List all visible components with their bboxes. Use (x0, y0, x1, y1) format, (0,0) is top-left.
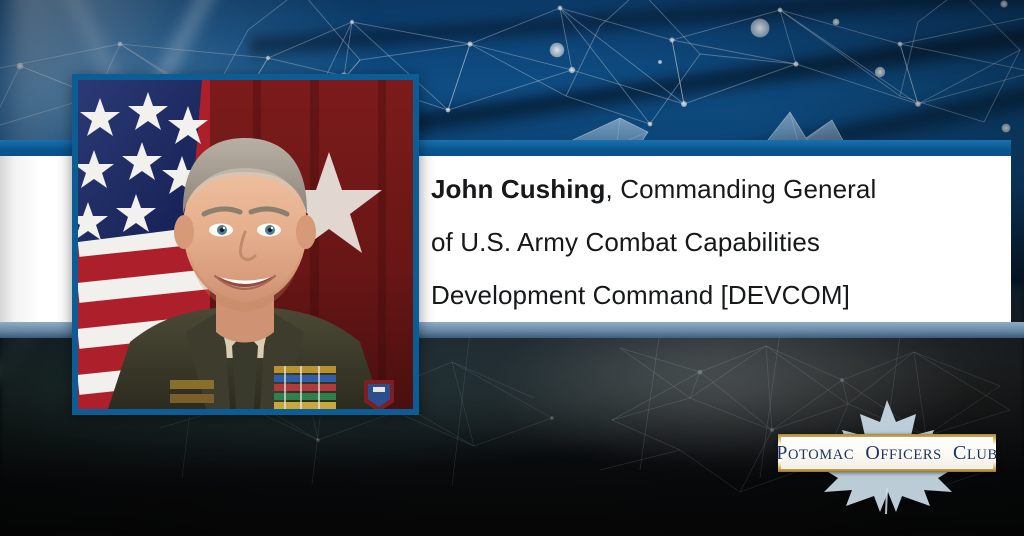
logo-nameplate: POTOMAC OFFICERS CLUB (778, 434, 996, 472)
logo-word-club-cap: C (953, 442, 967, 464)
speaker-name: John Cushing (431, 174, 606, 204)
speaker-title-line-2: of U.S. Army Combat Capabilities (431, 216, 991, 269)
logo-word-potomac-cap: P (776, 442, 788, 464)
speaker-title-line-1: Commanding General (620, 174, 876, 204)
portrait-illustration (78, 80, 413, 409)
logo-wordmark: POTOMAC OFFICERS CLUB (776, 443, 998, 463)
potomac-officers-club-logo: POTOMAC OFFICERS CLUB (772, 396, 1002, 514)
logo-word-officers-rest: FFICERS (880, 447, 941, 463)
logo-word-club-rest: LUB (967, 447, 998, 463)
speaker-portrait (78, 80, 413, 409)
speaker-caption: John Cushing, Commanding General of U.S.… (431, 163, 991, 322)
logo-nameplate-inner: POTOMAC OFFICERS CLUB (781, 437, 993, 469)
logo-word-officers-cap: O (865, 442, 880, 464)
caption-separator: , (606, 174, 621, 204)
caption-line-1: John Cushing, Commanding General (431, 163, 991, 216)
logo-word-potomac-rest: OTOMAC (788, 447, 854, 463)
speaker-banner: John Cushing, Commanding General of U.S.… (0, 0, 1024, 536)
speaker-title-line-3: Development Command [DEVCOM] (431, 269, 991, 322)
speaker-portrait-frame (72, 74, 419, 415)
